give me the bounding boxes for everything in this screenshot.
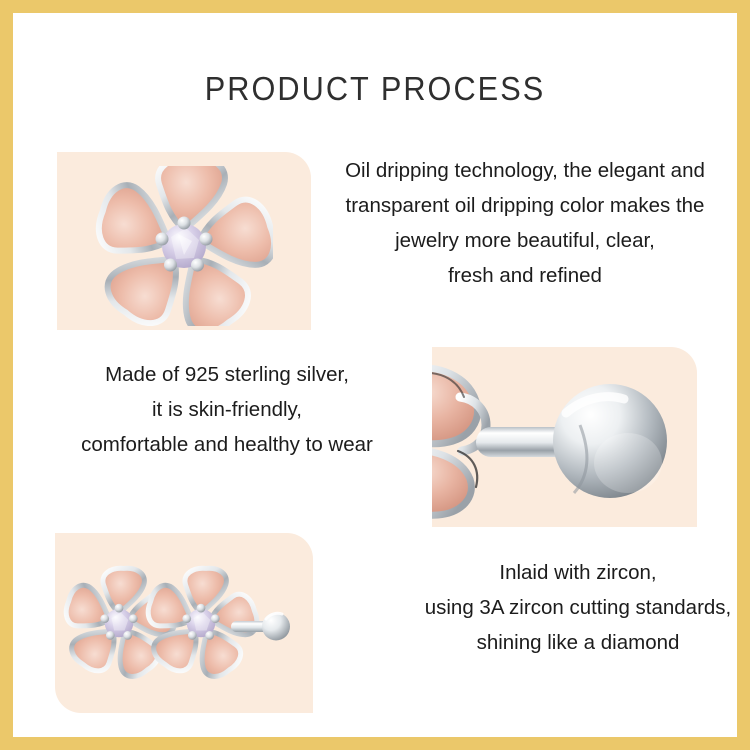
copy-line: Inlaid with zircon, bbox=[423, 555, 733, 590]
copy-line: transparent oil dripping color makes the bbox=[317, 188, 733, 223]
poster-canvas: PRODUCT PROCESS bbox=[13, 13, 737, 737]
copy-line: shining like a diamond bbox=[423, 625, 733, 660]
stud-pair-illustration bbox=[63, 559, 303, 691]
copy-line: Oil dripping technology, the elegant and bbox=[317, 153, 733, 188]
copy-line: comfortable and healthy to wear bbox=[41, 427, 413, 462]
copy-line: jewelry more beautiful, clear, bbox=[317, 223, 733, 258]
poster-root: PRODUCT PROCESS bbox=[0, 0, 750, 750]
copy-sterling-silver: Made of 925 sterling silver, it is skin-… bbox=[41, 357, 413, 462]
copy-zircon: Inlaid with zircon, using 3A zircon cutt… bbox=[423, 555, 733, 660]
copy-line: Made of 925 sterling silver, bbox=[41, 357, 413, 392]
flower-front-illustration bbox=[95, 166, 273, 326]
page-title: PRODUCT PROCESS bbox=[38, 69, 711, 109]
stud-side-illustration bbox=[432, 355, 697, 525]
copy-oil-dripping: Oil dripping technology, the elegant and… bbox=[317, 153, 733, 293]
product-photo-front bbox=[57, 152, 311, 330]
product-photo-pair bbox=[55, 533, 313, 713]
copy-line: it is skin-friendly, bbox=[41, 392, 413, 427]
product-photo-side bbox=[432, 347, 697, 527]
copy-line: fresh and refined bbox=[317, 258, 733, 293]
copy-line: using 3A zircon cutting standards, bbox=[423, 590, 733, 625]
